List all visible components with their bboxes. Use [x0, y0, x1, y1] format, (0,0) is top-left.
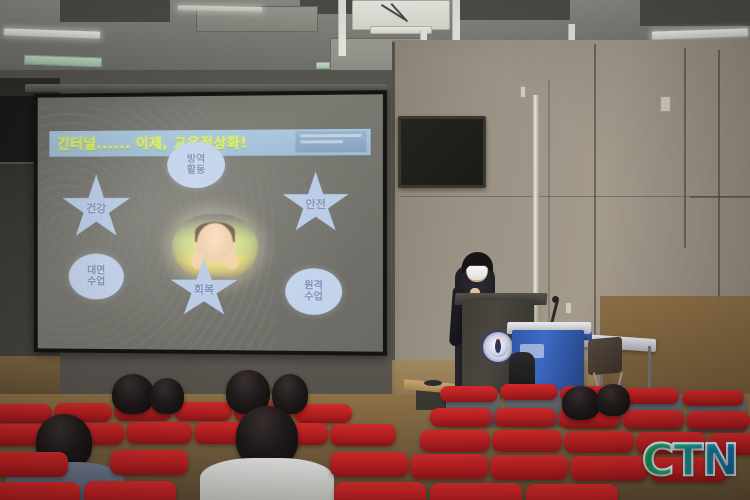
av-desk-leg	[648, 346, 651, 390]
ceiling-light-panel	[316, 62, 330, 69]
slide-node-remote: 원격수업	[285, 268, 342, 315]
podium-emblem-inner	[488, 337, 508, 357]
ceiling-recess	[640, 0, 750, 26]
slide-center-photo	[172, 214, 258, 280]
seat-row-far	[440, 386, 498, 402]
slide-corner-logo	[295, 131, 366, 153]
seat-row-2	[330, 452, 408, 477]
slide-node-safety-label: 안전	[305, 199, 326, 211]
wall-seam	[684, 48, 686, 248]
ceiling-recess	[452, 0, 570, 20]
wall-outlet-plate	[565, 302, 572, 314]
slide-node-quarantine: 방역활동	[167, 142, 225, 188]
audience-shoulders	[200, 458, 334, 500]
seat-row-1	[430, 483, 522, 500]
seat-row-3	[420, 430, 490, 452]
audience-head	[150, 378, 184, 414]
seat-row-2	[110, 450, 188, 475]
slide-node-face-to-face: 대면수업	[69, 254, 124, 300]
slide-node-health-label: 건강	[86, 203, 106, 214]
seat-row-4	[686, 411, 750, 430]
seat-row-4	[494, 408, 556, 427]
seat-row-1	[0, 482, 80, 500]
auditorium-scene: 긴터널...... 이제, 교육정상화! 건강 방역	[0, 0, 750, 500]
audience-head	[596, 384, 630, 416]
ceiling-strut	[338, 0, 346, 56]
wall-display-monitor	[398, 116, 486, 188]
seat-row-2	[490, 455, 568, 480]
seat-row-3	[492, 430, 562, 452]
audience-head	[112, 374, 154, 414]
seat-row-1	[334, 482, 426, 500]
seat-row-4	[622, 410, 684, 429]
wall-fixture	[520, 86, 526, 98]
slide-node-remote-label: 원격수업	[304, 280, 323, 303]
face-mask	[467, 266, 487, 280]
seat-row-1	[526, 484, 618, 500]
projection-screen-surface: 긴터널...... 이제, 교육정상화! 건강 방역	[38, 94, 383, 351]
seat-row-far	[682, 390, 744, 406]
wall-seam	[718, 50, 720, 300]
ctn-broadcaster-logo: CTN	[642, 435, 738, 486]
slide-node-safety: 안전	[281, 171, 350, 236]
podium-emblem-dot	[496, 339, 500, 343]
presentation-slide: 긴터널...... 이제, 교육정상화! 건강 방역	[38, 94, 383, 351]
slide-node-quarantine-label: 방역활동	[187, 154, 205, 176]
seat-row-3	[564, 431, 634, 453]
wall-seam	[690, 196, 750, 198]
microphone-head	[552, 296, 559, 303]
seat-row-4	[430, 408, 492, 427]
audience-head	[562, 386, 600, 420]
seat-row-1	[84, 481, 176, 500]
ceiling-recess	[60, 0, 170, 22]
photo-child-hand	[225, 252, 238, 269]
seat-row-3	[126, 422, 192, 444]
projection-screen: 긴터널...... 이제, 교육정상화! 건강 방역	[34, 90, 387, 356]
wall-outlet-plate	[660, 96, 671, 112]
table-object	[424, 380, 442, 386]
seat-row-2	[410, 454, 488, 479]
seat-row-3	[330, 424, 396, 446]
seat-row-2	[570, 456, 648, 481]
seat-row-far	[500, 384, 558, 400]
seat-row-4	[0, 404, 52, 423]
seat-row-2	[0, 452, 68, 477]
slide-node-recovery-label: 회복	[194, 284, 214, 296]
chair	[588, 337, 622, 376]
slide-node-face-to-face-label: 대면수업	[87, 265, 105, 287]
